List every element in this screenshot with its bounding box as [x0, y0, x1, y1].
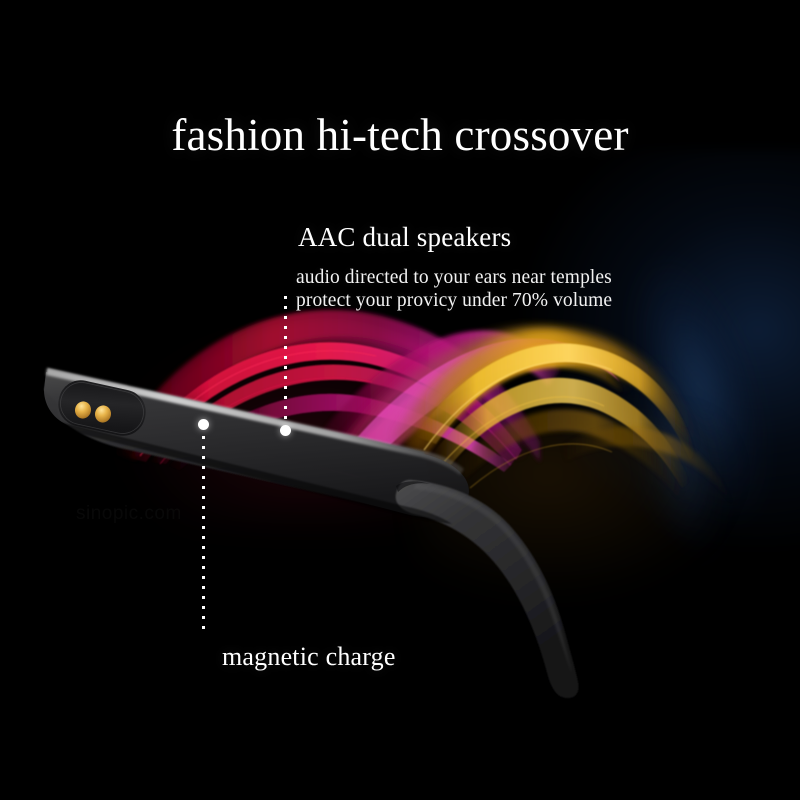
magnetic-charging-port	[54, 376, 150, 440]
product-marketing-image: sinopic.com fashion hi-tech crossover AA…	[0, 0, 800, 800]
leader-line-magnetic-charge	[202, 436, 205, 636]
page-title: fashion hi-tech crossover	[0, 112, 800, 159]
smart-audio-glasses	[0, 330, 800, 730]
callout-line-2: protect your provicy under 70% volume	[296, 290, 666, 313]
marker-dot-magnetic-charge	[198, 419, 209, 430]
watermark: sinopic.com	[76, 503, 182, 525]
callout-magnetic-charge: magnetic charge	[222, 642, 396, 672]
callout-aac-dual-speakers: AAC dual speakers audio directed to your…	[296, 222, 666, 312]
amber-ambient-glow	[420, 420, 740, 600]
blue-ambient-glow	[520, 150, 800, 550]
callout-line-1: audio directed to your ears near temples	[296, 267, 666, 290]
red-ambient-glow	[120, 330, 460, 520]
callout-title: AAC dual speakers	[298, 222, 666, 253]
leader-line-speakers	[284, 296, 287, 428]
marker-dot-speakers	[280, 425, 291, 436]
blue-wisp-lower	[566, 316, 774, 605]
